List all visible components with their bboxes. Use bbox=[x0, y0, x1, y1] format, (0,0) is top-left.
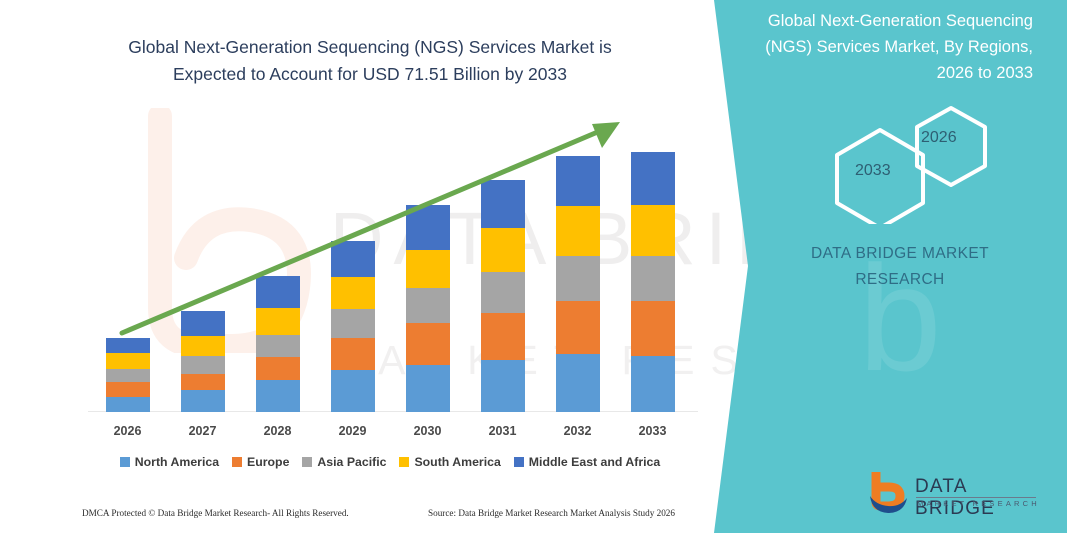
legend-swatch bbox=[120, 457, 130, 467]
bar-segment bbox=[331, 370, 375, 412]
x-axis-label: 2033 bbox=[623, 424, 683, 438]
bar-group bbox=[181, 311, 225, 412]
legend-swatch bbox=[232, 457, 242, 467]
x-axis-label: 2030 bbox=[398, 424, 458, 438]
bar-group bbox=[631, 152, 675, 412]
bar-segment bbox=[106, 382, 150, 397]
bar-segment bbox=[256, 357, 300, 380]
bar-segment bbox=[181, 336, 225, 356]
bar-segment bbox=[481, 313, 525, 360]
legend-swatch bbox=[514, 457, 524, 467]
footer-source: Source: Data Bridge Market Research Mark… bbox=[428, 508, 675, 518]
bar-segment bbox=[106, 397, 150, 412]
hexagon-group bbox=[823, 104, 1013, 224]
panel-brand-line-2: RESEARCH bbox=[745, 271, 1055, 289]
legend-item[interactable]: Europe bbox=[232, 455, 289, 469]
bar-segment bbox=[481, 228, 525, 272]
chart-plot-area bbox=[90, 110, 690, 412]
bar-segment bbox=[406, 323, 450, 365]
bar-group bbox=[481, 180, 525, 412]
bar-group bbox=[331, 241, 375, 412]
panel-brand-line-1: DATA BRIDGE MARKET bbox=[745, 245, 1055, 263]
stacked-bar-chart: 20262027202820292030203120322033 bbox=[0, 0, 720, 460]
bar-segment bbox=[256, 276, 300, 308]
bar-segment bbox=[106, 353, 150, 369]
bar-segment bbox=[631, 205, 675, 256]
bar-segment bbox=[631, 256, 675, 301]
bar-segment bbox=[181, 390, 225, 412]
legend-label: South America bbox=[414, 455, 500, 469]
legend-swatch bbox=[302, 457, 312, 467]
bar-group bbox=[106, 338, 150, 412]
bar-segment bbox=[181, 356, 225, 374]
bar-segment bbox=[631, 152, 675, 205]
bar-segment bbox=[556, 301, 600, 354]
bar-segment bbox=[331, 241, 375, 277]
footer: DMCA Protected © Data Bridge Market Rese… bbox=[0, 506, 720, 526]
bar-segment bbox=[631, 356, 675, 412]
bar-group bbox=[406, 205, 450, 412]
panel-title-line-1: Global Next-Generation Sequencing bbox=[733, 8, 1033, 34]
data-bridge-mark-icon bbox=[866, 472, 912, 516]
bar-segment bbox=[406, 205, 450, 250]
infographic-root: DATA BRIDGE MARKET RESEARCH Global Next-… bbox=[0, 0, 1067, 533]
legend-label: North America bbox=[135, 455, 219, 469]
bar-segment bbox=[331, 309, 375, 338]
x-axis-label: 2032 bbox=[548, 424, 608, 438]
panel-title-line-2: (NGS) Services Market, By Regions, bbox=[733, 34, 1033, 60]
legend-item[interactable]: Middle East and Africa bbox=[514, 455, 660, 469]
bar-segment bbox=[406, 250, 450, 288]
chart-legend: North AmericaEuropeAsia PacificSouth Ame… bbox=[90, 455, 690, 469]
bar-segment bbox=[181, 311, 225, 336]
bar-segment bbox=[481, 360, 525, 412]
bar-segment bbox=[331, 277, 375, 309]
bar-group bbox=[556, 156, 600, 412]
bar-segment bbox=[406, 288, 450, 323]
footer-copyright: DMCA Protected © Data Bridge Market Rese… bbox=[82, 508, 349, 518]
x-axis-label: 2026 bbox=[98, 424, 158, 438]
x-axis-label: 2031 bbox=[473, 424, 533, 438]
bar-segment bbox=[256, 335, 300, 357]
logo-tagline: MARKET RESEARCH bbox=[917, 499, 1040, 508]
bar-segment bbox=[556, 354, 600, 412]
bar-segment bbox=[481, 180, 525, 228]
legend-label: Middle East and Africa bbox=[529, 455, 660, 469]
data-bridge-logo: DATA BRIDGE MARKET RESEARCH bbox=[866, 472, 1046, 518]
hexagon-2033-label: 2033 bbox=[855, 162, 891, 180]
panel-title-line-3: 2026 to 2033 bbox=[733, 60, 1033, 86]
x-axis-label: 2029 bbox=[323, 424, 383, 438]
bar-segment bbox=[556, 206, 600, 256]
x-axis-label: 2028 bbox=[248, 424, 308, 438]
bar-group bbox=[256, 276, 300, 412]
bar-segment bbox=[556, 256, 600, 301]
legend-item[interactable]: Asia Pacific bbox=[302, 455, 386, 469]
bar-segment bbox=[406, 365, 450, 412]
bar-segment bbox=[256, 380, 300, 412]
hexagon-2026-label: 2026 bbox=[921, 129, 957, 147]
bar-segment bbox=[181, 374, 225, 390]
bar-segment bbox=[481, 272, 525, 313]
bar-segment bbox=[106, 338, 150, 353]
chart-x-axis-labels: 20262027202820292030203120322033 bbox=[90, 424, 690, 444]
bar-segment bbox=[556, 156, 600, 206]
bar-segment bbox=[106, 369, 150, 382]
x-axis-label: 2027 bbox=[173, 424, 233, 438]
legend-label: Asia Pacific bbox=[317, 455, 386, 469]
bar-segment bbox=[256, 308, 300, 335]
logo-name: DATA BRIDGE bbox=[915, 476, 1046, 520]
panel-title: Global Next-Generation Sequencing (NGS) … bbox=[733, 8, 1033, 86]
legend-swatch bbox=[399, 457, 409, 467]
bar-segment bbox=[331, 338, 375, 370]
legend-item[interactable]: South America bbox=[399, 455, 500, 469]
bar-segment bbox=[631, 301, 675, 356]
legend-item[interactable]: North America bbox=[120, 455, 219, 469]
legend-label: Europe bbox=[247, 455, 289, 469]
